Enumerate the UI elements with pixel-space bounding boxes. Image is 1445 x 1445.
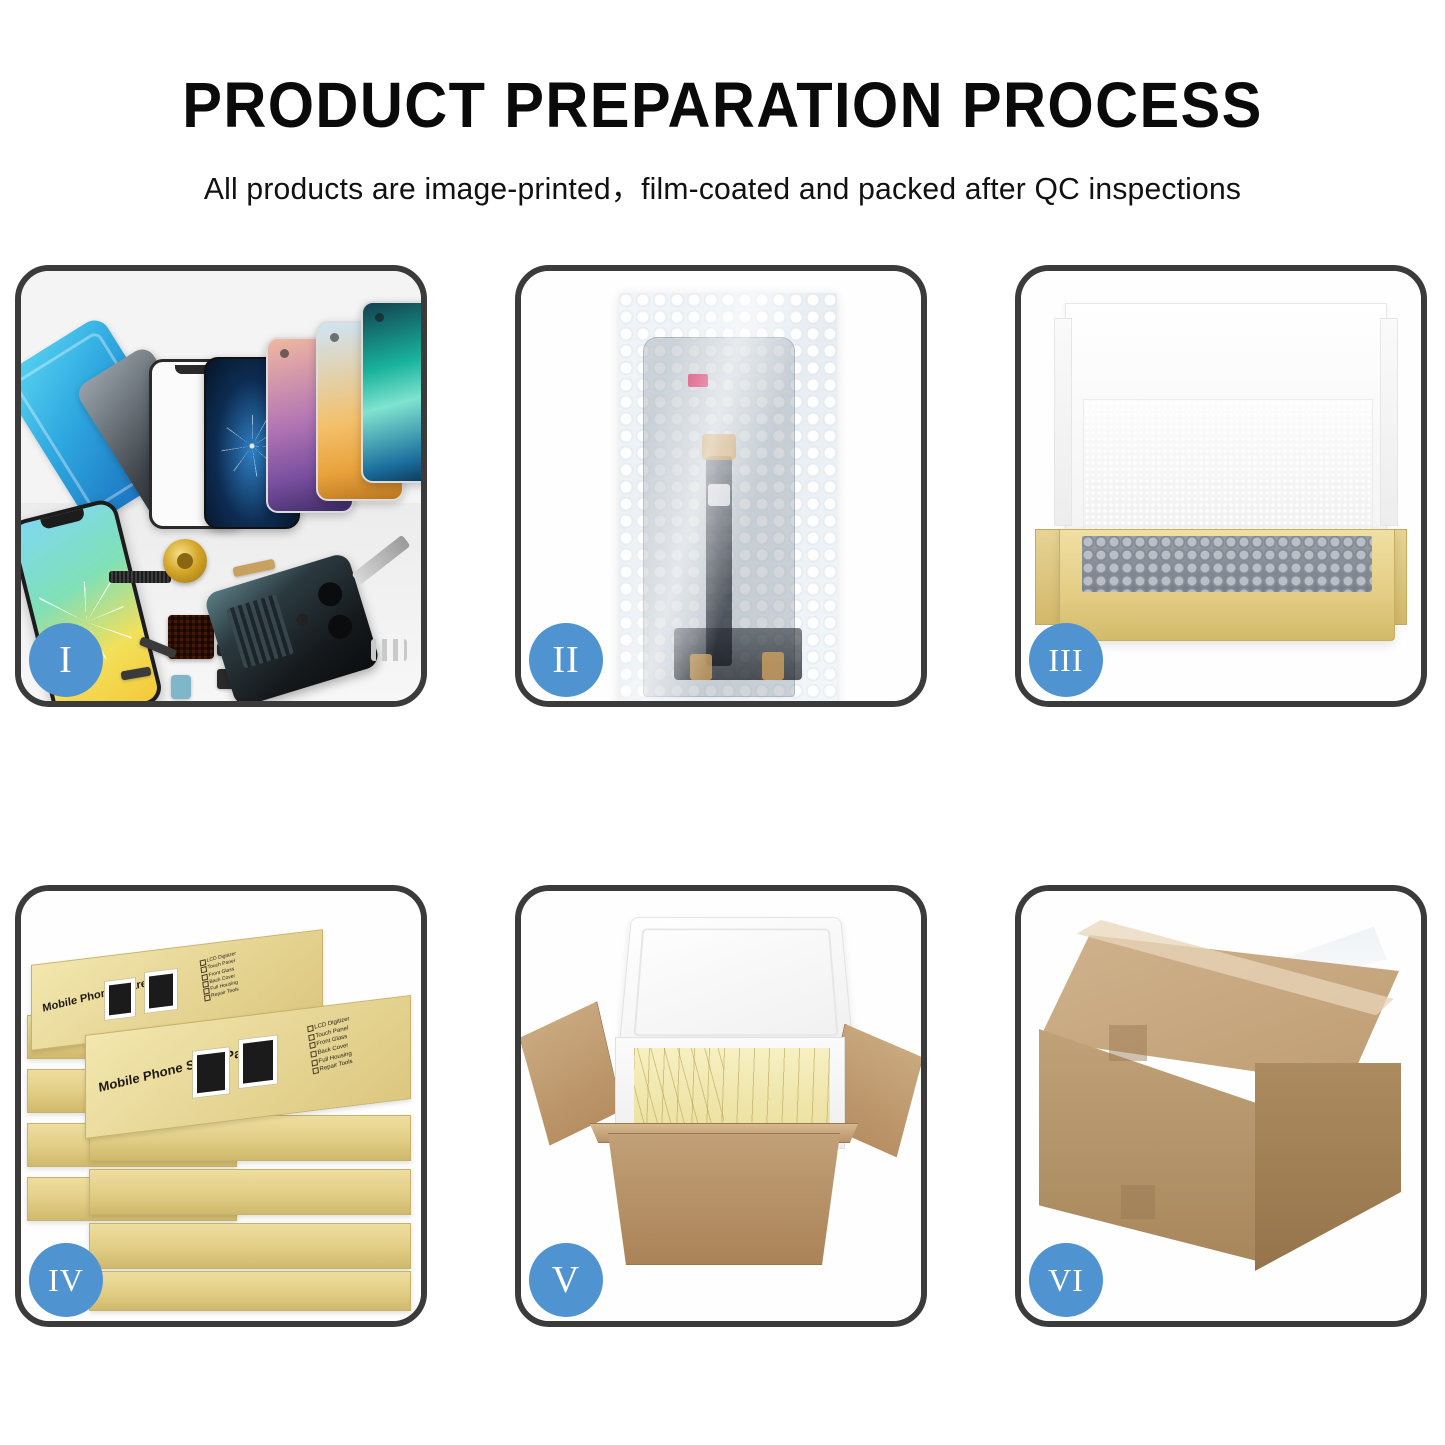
step-badge-5: V	[529, 1243, 603, 1317]
header: PRODUCT PREPARATION PROCESS All products…	[0, 0, 1445, 208]
phone-display-teal	[361, 301, 421, 483]
camera-dot-icon	[280, 349, 289, 358]
carton-side-face	[1255, 1063, 1401, 1271]
process-row-2: Mobile Phone Spare Parts LCD Digitizer T…	[15, 885, 1430, 1327]
step-panel-3: III	[1015, 265, 1427, 707]
step-badge-6: VI	[1029, 1243, 1103, 1317]
step-panel-5: V	[515, 885, 927, 1327]
step-panel-6: VI	[1015, 885, 1427, 1327]
process-grid: I II	[15, 265, 1430, 1327]
step-badge-1: I	[29, 623, 103, 697]
step-panel-4: Mobile Phone Spare Parts LCD Digitizer T…	[15, 885, 427, 1327]
step-panel-2: II	[515, 265, 927, 707]
process-row-1: I II	[15, 265, 1430, 707]
retail-box-checklist: LCD Digitizer Touch Panel Front Glass Ba…	[199, 951, 240, 1002]
retail-box-checklist: LCD Digitizer Touch Panel Front Glass Ba…	[307, 1015, 355, 1076]
carton-tab-marking	[1121, 1185, 1155, 1219]
bubble-wrap-bag	[619, 293, 837, 701]
retail-box-screen-image	[238, 1034, 278, 1089]
screws-part	[371, 639, 407, 661]
lcd-connector-board	[674, 628, 802, 680]
step-badge-2: II	[529, 623, 603, 697]
step-badge-4: IV	[29, 1243, 103, 1317]
step-panel-1: I	[15, 265, 427, 707]
retail-box-brand-label: Mobile Phone Spare Parts	[98, 1041, 259, 1095]
retail-box-screen-image	[144, 968, 178, 1014]
retail-box-screen-image	[104, 977, 136, 1021]
pink-label-tab	[688, 374, 708, 387]
retail-box-edge	[89, 1271, 411, 1311]
gold-coil-part	[163, 539, 207, 583]
lcd-screen-assembly	[643, 337, 795, 697]
camera-dot-icon	[330, 333, 339, 342]
grey-bubble-wrap-filling	[1082, 536, 1372, 592]
carton-body	[595, 1133, 853, 1265]
retail-box-edge	[89, 1223, 411, 1269]
white-foam-sheet	[1083, 399, 1373, 541]
page-subtitle: All products are image-printed，film-coat…	[22, 163, 1424, 208]
infographic-page: PRODUCT PREPARATION PROCESS All products…	[0, 0, 1445, 1445]
step-badge-3: III	[1029, 623, 1103, 697]
mailer-box-base	[1059, 529, 1395, 641]
carton-tab-marking	[1109, 1025, 1147, 1061]
retail-box-screen-image	[192, 1046, 230, 1099]
retail-box-edge	[89, 1169, 411, 1215]
foam-box-lid	[618, 917, 853, 1050]
speaker-grille-part	[109, 571, 171, 583]
camera-dot-icon	[375, 313, 384, 322]
page-title: PRODUCT PREPARATION PROCESS	[51, 72, 1395, 139]
sim-tray-part	[171, 675, 191, 699]
